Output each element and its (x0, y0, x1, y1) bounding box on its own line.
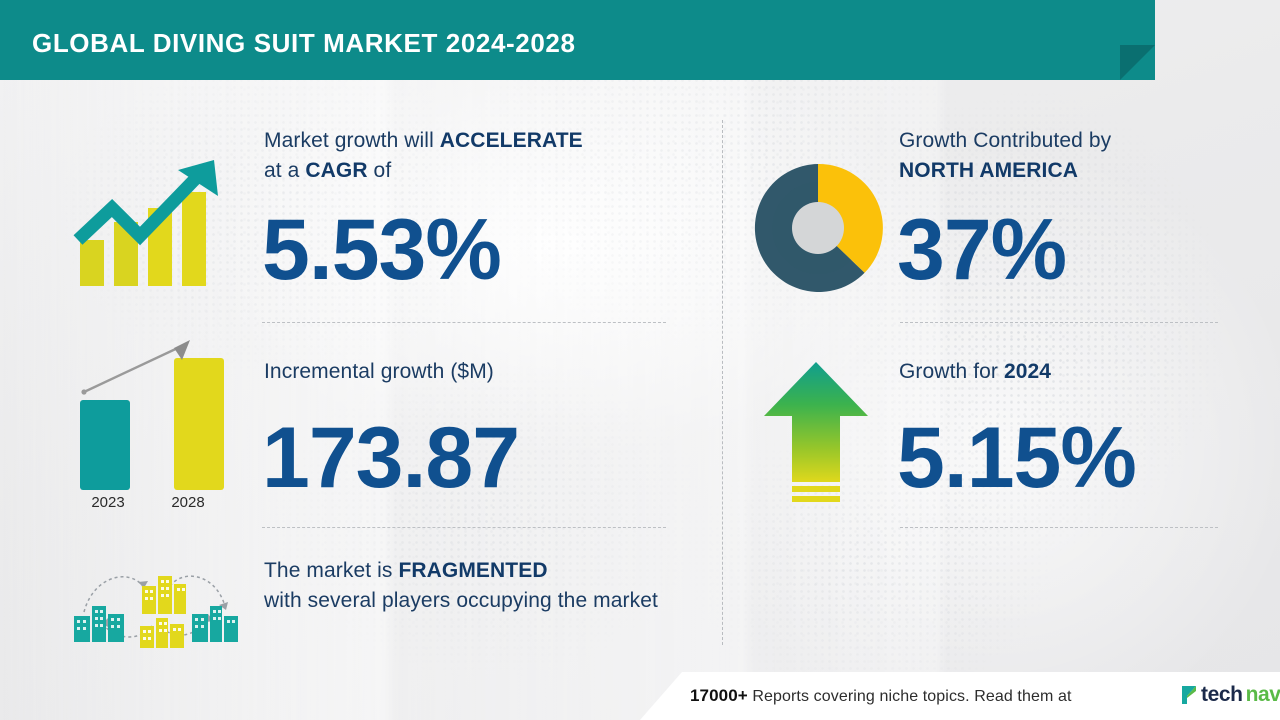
logo-text-navio: navio (1246, 683, 1280, 707)
year-growth-bold: 2024 (1004, 360, 1051, 383)
technavio-flag-icon (1180, 684, 1198, 706)
region-label-bold: NORTH AMERICA (899, 159, 1078, 182)
footer-text: 17000+ Reports covering niche topics. Re… (690, 686, 1072, 706)
header-fold-corner (1120, 45, 1155, 80)
bar-compare-icon (62, 330, 242, 520)
divider-left-2 (262, 527, 666, 528)
region-label-text: Growth Contributed by (899, 129, 1111, 152)
cagr-label-text-1: Market growth will (264, 129, 440, 152)
growth-arrow-icon (72, 152, 232, 292)
fragmentation-text-2: with several players occupying the marke… (264, 589, 658, 612)
bar-caption-2023: 2023 (78, 494, 138, 511)
divider-right-1 (900, 322, 1218, 323)
cagr-label: Market growth will ACCELERATE at a CAGR … (264, 126, 664, 186)
year-growth-label: Growth for 2024 (899, 357, 1229, 387)
incremental-growth-label: Incremental growth ($M) (264, 357, 664, 387)
donut-chart-icon (752, 162, 884, 294)
fragmented-market-icon (66, 552, 246, 652)
footer-tagline: Reports covering niche topics. Read them… (752, 688, 1071, 705)
vertical-divider (722, 120, 723, 645)
fragmentation-text-1: The market is (264, 559, 398, 582)
bar-caption-2028: 2028 (158, 494, 218, 511)
footer-report-count: 17000+ (690, 686, 748, 705)
page-title: GLOBAL DIVING SUIT MARKET 2024-2028 (32, 28, 576, 59)
fragmentation-label: The market is FRAGMENTED with several pl… (264, 556, 684, 616)
incremental-growth-value: 173.87 (262, 415, 519, 501)
year-growth-value: 5.15% (897, 415, 1136, 501)
divider-right-2 (900, 527, 1218, 528)
region-label: Growth Contributed by NORTH AMERICA (899, 126, 1229, 186)
up-arrow-icon (760, 358, 872, 510)
cagr-value: 5.53% (262, 207, 501, 293)
technavio-logo[interactable]: technavio (1180, 683, 1280, 707)
year-growth-text: Growth for (899, 360, 1004, 383)
cagr-label-bold-1: ACCELERATE (440, 129, 583, 152)
cagr-label-bold-2: CAGR (305, 159, 367, 182)
cagr-label-text-2: at a (264, 159, 305, 182)
cagr-label-text-3: of (368, 159, 392, 182)
region-value: 37% (897, 207, 1066, 293)
divider-left-1 (262, 322, 666, 323)
fragmentation-bold: FRAGMENTED (398, 559, 547, 582)
infographic-page: GLOBAL DIVING SUIT MARKET 2024-2028 Mark… (0, 0, 1280, 720)
logo-text-tech: tech (1201, 683, 1243, 707)
